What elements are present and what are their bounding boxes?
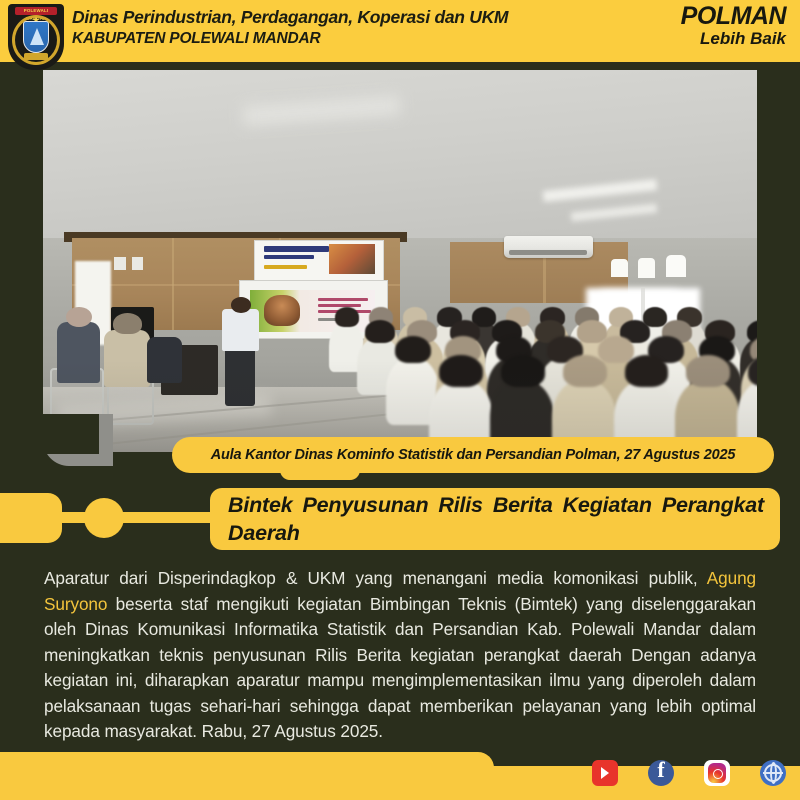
emblem-base xyxy=(24,53,48,60)
title-decoration-line-2 xyxy=(118,512,218,523)
event-photo xyxy=(43,70,757,452)
coat-of-arms-icon: POLEWALI MANDAR ★ xyxy=(6,1,66,73)
banner-photo xyxy=(329,244,375,275)
photo-corner-mask xyxy=(43,414,99,454)
photo-caption-text: Aula Kantor Dinas Kominfo Statistik dan … xyxy=(211,447,736,463)
air-conditioner-vent xyxy=(509,250,588,255)
high-window-2 xyxy=(638,258,655,278)
audience-member-head xyxy=(365,320,395,343)
polman-tagline: Lebih Baik xyxy=(646,29,786,48)
globe-ring xyxy=(764,764,782,782)
header-titles: Dinas Perindustrian, Perdagangan, Kopera… xyxy=(72,6,632,49)
slide-figure xyxy=(264,295,300,326)
social-media-poster: POLEWALI MANDAR ★ Dinas Perindustrian, P… xyxy=(0,0,800,800)
wall-vent-1 xyxy=(114,257,125,270)
body-part-1: Aparatur dari Disperindagkop & UKM yang … xyxy=(44,568,707,588)
website-icon[interactable] xyxy=(760,760,786,786)
youtube-icon[interactable] xyxy=(592,760,618,786)
wall-vent-2 xyxy=(132,257,143,270)
photo-scene xyxy=(43,70,757,452)
audience-member-head xyxy=(395,336,431,364)
presenter-shirt xyxy=(222,309,259,351)
facebook-icon[interactable] xyxy=(648,760,674,786)
high-window-1 xyxy=(611,259,628,277)
regency-name: KABUPATEN POLEWALI MANDAR xyxy=(72,28,632,49)
audience-member-head xyxy=(598,336,634,364)
banner-heading-line-1 xyxy=(264,246,328,252)
slide-text-1 xyxy=(318,298,368,302)
polman-wordmark: POLMAN xyxy=(646,4,786,29)
body-part-2: beserta staf mengikuti kegiatan Bimbinga… xyxy=(44,594,756,742)
instagram-icon[interactable] xyxy=(704,760,730,786)
poster-header: POLEWALI MANDAR ★ Dinas Perindustrian, P… xyxy=(0,0,800,62)
social-links xyxy=(592,760,786,786)
banner-heading-line-2 xyxy=(264,255,314,260)
instagram-glyph xyxy=(708,763,726,783)
poster-footer xyxy=(0,752,800,800)
seated-person-2-head xyxy=(113,313,142,334)
polman-brand-logo: POLMAN Lebih Baik xyxy=(646,4,786,54)
seated-person-1-head xyxy=(66,307,92,327)
title-decoration-rect xyxy=(0,493,62,543)
presenter-head xyxy=(231,297,251,312)
photo-caption: Aula Kantor Dinas Kominfo Statistik dan … xyxy=(172,437,774,473)
scene-ceiling xyxy=(43,70,757,246)
slide-text-2 xyxy=(318,304,361,307)
high-window-3 xyxy=(666,255,686,277)
banner-accent-line xyxy=(264,265,307,269)
emblem-shield-icon xyxy=(23,21,49,53)
headline-banner: Bintek Penyusunan Rilis Berita Kegiatan … xyxy=(210,488,780,550)
article-body: Aparatur dari Disperindagkop & UKM yang … xyxy=(44,566,756,745)
page-title: Bintek Penyusunan Rilis Berita Kegiatan … xyxy=(210,491,780,547)
department-name: Dinas Perindustrian, Perdagangan, Kopera… xyxy=(72,6,632,28)
regency-emblem-logo: POLEWALI MANDAR ★ xyxy=(6,1,66,73)
audience-member-head xyxy=(335,307,359,327)
emblem-ribbon: POLEWALI MANDAR xyxy=(15,7,57,15)
